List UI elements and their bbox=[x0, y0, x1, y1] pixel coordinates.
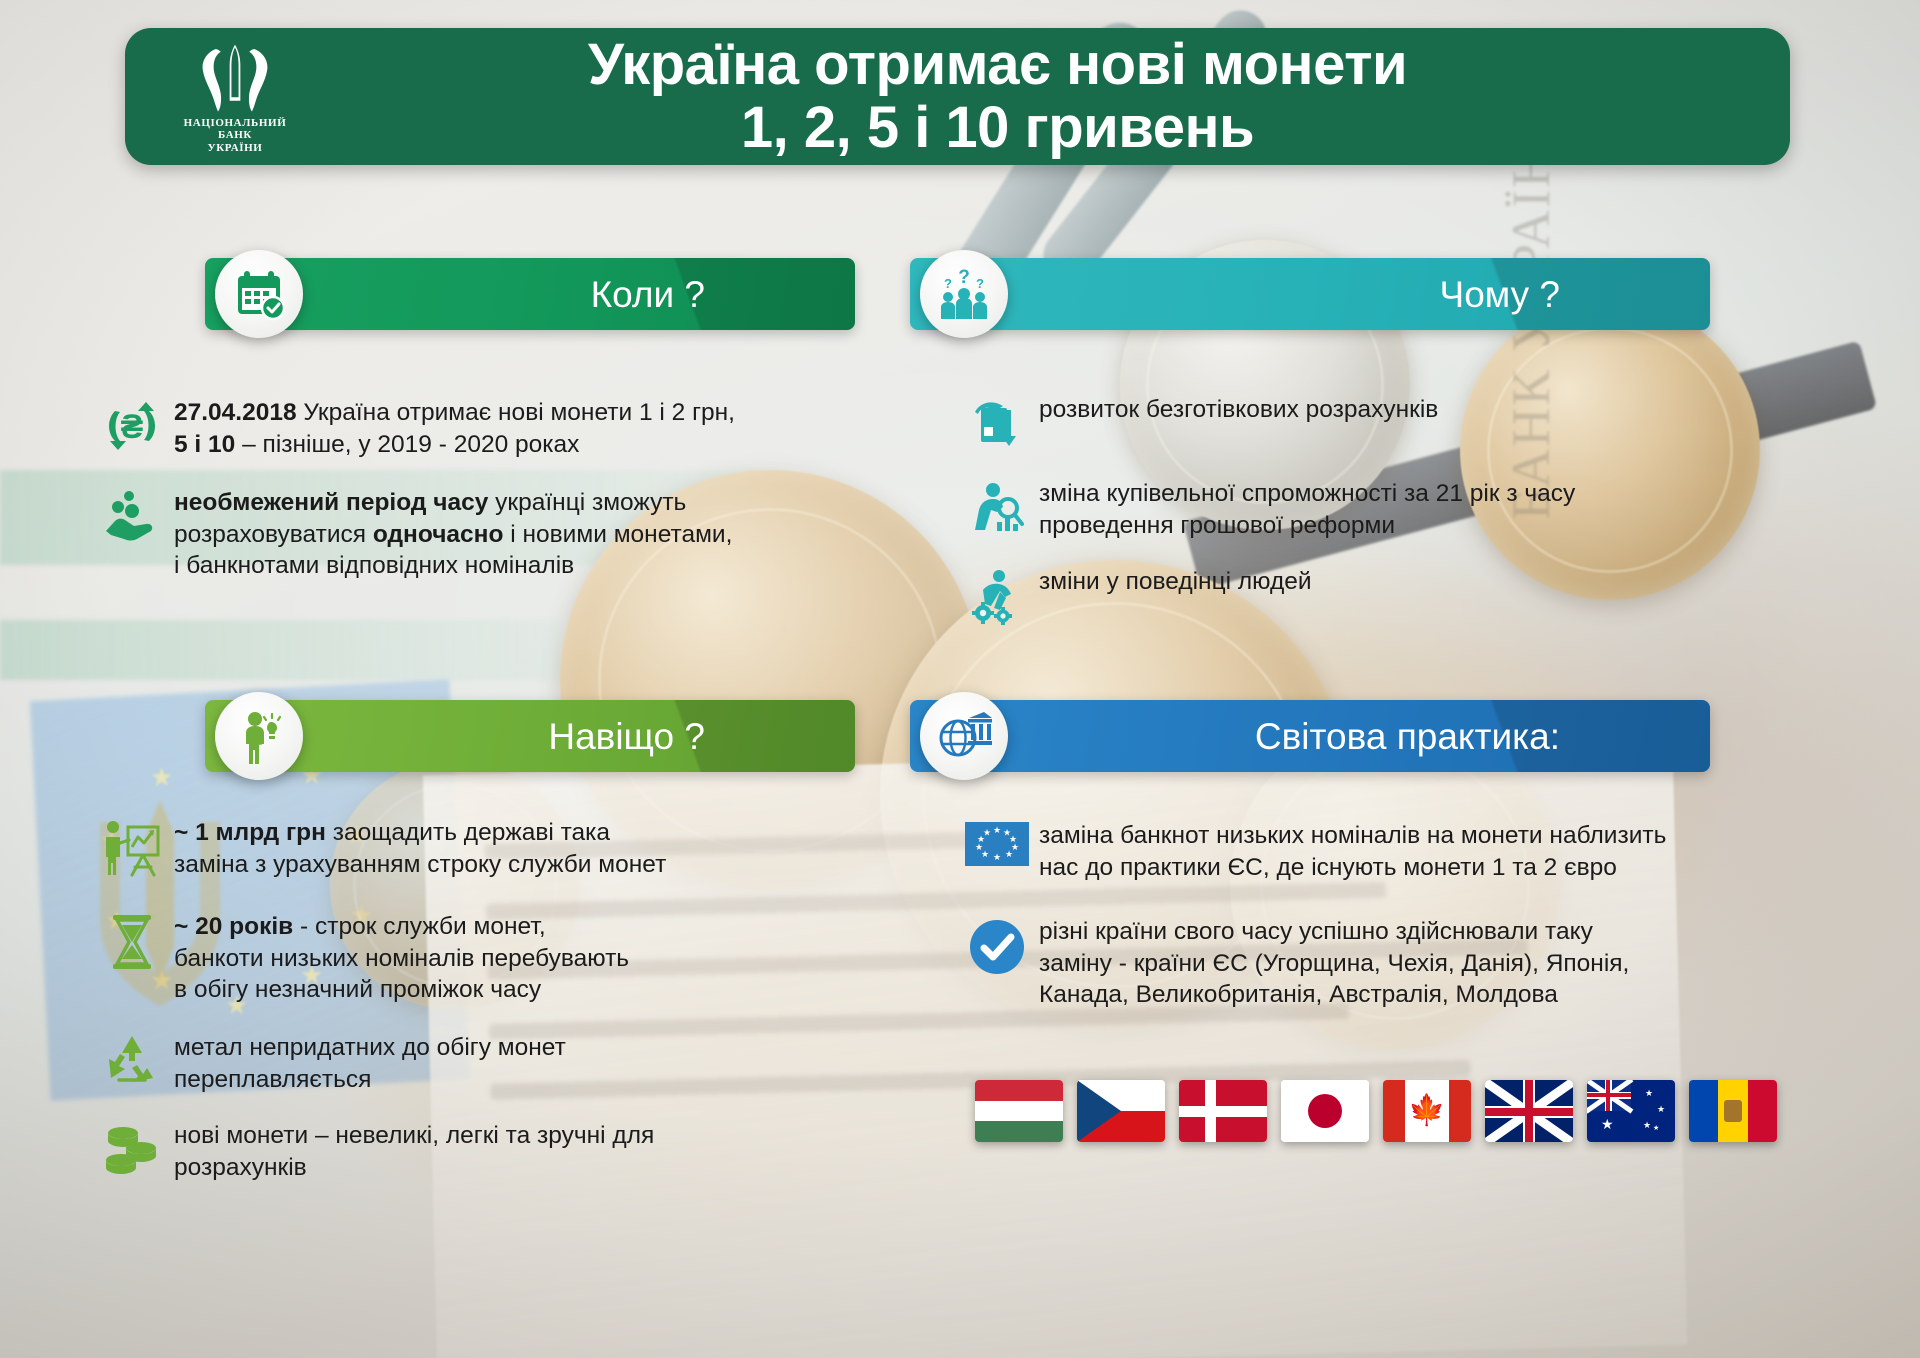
bullet-whatfor-2-l2: банкоти низьких номіналів перебувають bbox=[174, 945, 629, 972]
bullet-world-2-l1: різні країни свого часу успішно здійснюв… bbox=[1039, 918, 1593, 945]
page-title: Україна отримає нові монети 1, 2, 5 і 10… bbox=[125, 34, 1790, 159]
bullet-when-2-text: необмежений період часу українці зможуть… bbox=[174, 485, 732, 583]
page-title-line1: Україна отримає нові монети bbox=[588, 32, 1407, 97]
check-circle-icon bbox=[955, 914, 1039, 978]
bullet-why-2-l2: проведення грошової реформи bbox=[1039, 512, 1395, 539]
logo-caption-3: УКРАЇНИ bbox=[184, 142, 287, 154]
bullet-when-2-l1-bold: необмежений період часу bbox=[174, 489, 488, 516]
svg-text:?: ? bbox=[958, 267, 970, 288]
bullet-world-2: різні країни свого часу успішно здійснюв… bbox=[955, 914, 1855, 1012]
bullet-whatfor-1-l2: заміна з урахуванням строку служби монет bbox=[174, 851, 666, 878]
bullet-when-1-l1-bold: 27.04.2018 bbox=[174, 399, 297, 426]
bullet-when-2: необмежений період часу українці зможуть… bbox=[90, 485, 830, 583]
section-what-for-bullets: ~ 1 млрд грн заощадить державі така замі… bbox=[90, 815, 830, 1206]
bullet-whatfor-1-l1-bold: ~ 1 млрд грн bbox=[174, 819, 326, 846]
presenter-chart-icon bbox=[90, 815, 174, 879]
hourglass-icon bbox=[90, 909, 174, 973]
svg-text:★: ★ bbox=[993, 825, 1001, 835]
bullet-world-1: ★★★ ★★★ ★★★ ★ заміна банкнот низьких ном… bbox=[955, 818, 1855, 884]
page-header: НАЦІОНАЛЬНИЙ БАНК УКРАЇНИ Україна отрима… bbox=[125, 28, 1790, 165]
bullet-when-2-l2-pre: розраховуватися bbox=[174, 521, 373, 548]
svg-text:₴: ₴ bbox=[121, 408, 144, 446]
bullet-world-1-text: заміна банкнот низьких номіналів на моне… bbox=[1039, 818, 1666, 884]
svg-text:?: ? bbox=[944, 276, 952, 291]
flags-row: 🍁 ★ ★ ★ ★ ★ bbox=[975, 1080, 1777, 1142]
bullet-why-2-text: зміна купівельної спроможності за 21 рік… bbox=[1039, 476, 1575, 542]
bullet-why-1: розвиток безготівкових розрахунків bbox=[955, 392, 1775, 454]
card-payment-icon bbox=[955, 392, 1039, 454]
flag-japan bbox=[1281, 1080, 1369, 1142]
bullet-when-1-text: 27.04.2018 Україна отримає нові монети 1… bbox=[174, 395, 735, 461]
nbu-logo: НАЦІОНАЛЬНИЙ БАНК УКРАЇНИ bbox=[160, 42, 310, 154]
section-why: Чому ? ? ? ? bbox=[910, 258, 1710, 330]
bullet-whatfor-3-text: метал непридатних до обігу монет перепла… bbox=[174, 1030, 566, 1096]
bullet-whatfor-2-l1-bold: ~ 20 років bbox=[174, 913, 293, 940]
page-title-line2: 1, 2, 5 і 10 гривень bbox=[245, 97, 1750, 160]
flag-moldova bbox=[1689, 1080, 1777, 1142]
bullet-whatfor-4: нові монети – невеликі, легкі та зручні … bbox=[90, 1118, 830, 1184]
bullet-when-1-l1-rest: Україна отримає нові монети 1 і 2 грн, bbox=[297, 399, 735, 426]
bullet-whatfor-1-text: ~ 1 млрд грн заощадить державі така замі… bbox=[174, 815, 666, 881]
bullet-whatfor-2: ~ 20 років - строк служби монет, банкоти… bbox=[90, 909, 830, 1007]
bullet-why-1-l1: розвиток безготівкових розрахунків bbox=[1039, 396, 1438, 423]
hryvnia-exchange-icon: ₴ bbox=[90, 395, 174, 455]
logo-caption-2: БАНК bbox=[184, 129, 287, 141]
svg-text:?: ? bbox=[976, 276, 984, 291]
bullet-whatfor-3-l1: метал непридатних до обігу монет bbox=[174, 1034, 566, 1061]
bullet-world-2-l3: Канада, Великобританія, Австралія, Молдо… bbox=[1039, 981, 1558, 1008]
flag-czech-republic bbox=[1077, 1080, 1165, 1142]
hand-coins-icon bbox=[90, 485, 174, 545]
section-when: Коли ? bbox=[205, 258, 855, 330]
section-when-title: Коли ? bbox=[591, 276, 855, 313]
bullet-whatfor-2-text: ~ 20 років - строк служби монет, банкоти… bbox=[174, 909, 629, 1007]
infographic-page: НАЦІОНАЛЬНИЙ БАНК УКРАЇНИ Україна отрима… bbox=[0, 0, 1920, 1358]
bullet-whatfor-2-l3: в обігу незначний проміжок часу bbox=[174, 976, 541, 1003]
bullet-why-3-text: зміни у поведінці людей bbox=[1039, 564, 1312, 598]
eu-flag-icon: ★★★ ★★★ ★★★ ★ bbox=[955, 818, 1039, 868]
section-what-for-title: Навіщо ? bbox=[548, 718, 855, 755]
bullet-when-1-l2-bold: 5 і 10 bbox=[174, 431, 235, 458]
flag-hungary bbox=[975, 1080, 1063, 1142]
person-magnifier-icon bbox=[955, 476, 1039, 538]
bullet-when-1: ₴ 27.04.2018 Україна отримає нові монети… bbox=[90, 395, 830, 461]
svg-text:★: ★ bbox=[993, 852, 1001, 862]
bullet-world-1-l2: нас до практики ЄС, де існують монети 1 … bbox=[1039, 854, 1617, 881]
bullet-why-3-l1: зміни у поведінці людей bbox=[1039, 568, 1312, 595]
globe-bank-icon bbox=[920, 692, 1008, 780]
logo-caption-1: НАЦІОНАЛЬНИЙ bbox=[184, 117, 287, 129]
coin-stack-icon bbox=[90, 1118, 174, 1176]
bullet-when-2-l2-bold: одночасно bbox=[373, 521, 504, 548]
person-gears-icon bbox=[955, 564, 1039, 626]
bullet-when-2-l2-rest: і новими монетами, bbox=[503, 521, 732, 548]
svg-text:★: ★ bbox=[983, 828, 991, 838]
section-why-title: Чому ? bbox=[1440, 276, 1710, 313]
flag-united-kingdom bbox=[1485, 1080, 1573, 1142]
bullet-why-2: зміна купівельної спроможності за 21 рік… bbox=[955, 476, 1775, 542]
bullet-world-2-text: різні країни свого часу успішно здійснюв… bbox=[1039, 914, 1629, 1012]
bullet-when-1-l2-rest: – пізніше, у 2019 - 2020 роках bbox=[235, 431, 579, 458]
bullet-when-2-l1-rest: українці зможуть bbox=[488, 489, 686, 516]
flag-australia: ★ ★ ★ ★ ★ bbox=[1587, 1080, 1675, 1142]
section-what-for: Навіщо ? bbox=[205, 700, 855, 772]
bullet-whatfor-3: метал непридатних до обігу монет перепла… bbox=[90, 1030, 830, 1096]
bullet-why-3: зміни у поведінці людей bbox=[955, 564, 1775, 626]
bullet-whatfor-4-text: нові монети – невеликі, легкі та зручні … bbox=[174, 1118, 654, 1184]
bullet-whatfor-2-l1-rest: - строк служби монет, bbox=[293, 913, 545, 940]
recycle-icon bbox=[90, 1030, 174, 1090]
flag-canada: 🍁 bbox=[1383, 1080, 1471, 1142]
svg-text:★: ★ bbox=[1005, 849, 1013, 859]
section-why-bullets: розвиток безготівкових розрахунків зміна… bbox=[955, 392, 1775, 648]
bullet-why-1-text: розвиток безготівкових розрахунків bbox=[1039, 392, 1438, 426]
calendar-check-icon bbox=[215, 250, 303, 338]
section-world-bar[interactable]: Світова практика: bbox=[910, 700, 1710, 772]
section-when-bullets: ₴ 27.04.2018 Україна отримає нові монети… bbox=[90, 395, 830, 604]
bullet-why-2-l1: зміна купівельної спроможності за 21 рік… bbox=[1039, 480, 1575, 507]
trident-icon bbox=[183, 42, 287, 115]
bullet-world-1-l1: заміна банкнот низьких номіналів на моне… bbox=[1039, 822, 1666, 849]
bullet-world-2-l2: заміну - країни ЄС (Угорщина, Чехія, Дан… bbox=[1039, 950, 1629, 977]
bullet-when-2-l3-rest: і банкнотами відповідних номіналів bbox=[174, 552, 574, 579]
bullet-whatfor-1-l1-rest: заощадить державі така bbox=[326, 819, 610, 846]
bullet-whatfor-1: ~ 1 млрд грн заощадить державі така замі… bbox=[90, 815, 830, 881]
flag-denmark bbox=[1179, 1080, 1267, 1142]
people-question-icon: ? ? ? bbox=[920, 250, 1008, 338]
bullet-whatfor-3-l2: переплавляється bbox=[174, 1066, 371, 1093]
section-world: Світова практика: bbox=[910, 700, 1710, 772]
thinking-idea-icon bbox=[215, 692, 303, 780]
section-world-title: Світова практика: bbox=[1255, 718, 1710, 755]
bullet-whatfor-4-l2: розрахунків bbox=[174, 1154, 307, 1181]
section-world-bullets: ★★★ ★★★ ★★★ ★ заміна банкнот низьких ном… bbox=[955, 818, 1855, 1033]
bullet-whatfor-4-l1: нові монети – невеликі, легкі та зручні … bbox=[174, 1122, 654, 1149]
section-why-bar[interactable]: Чому ? bbox=[910, 258, 1710, 330]
